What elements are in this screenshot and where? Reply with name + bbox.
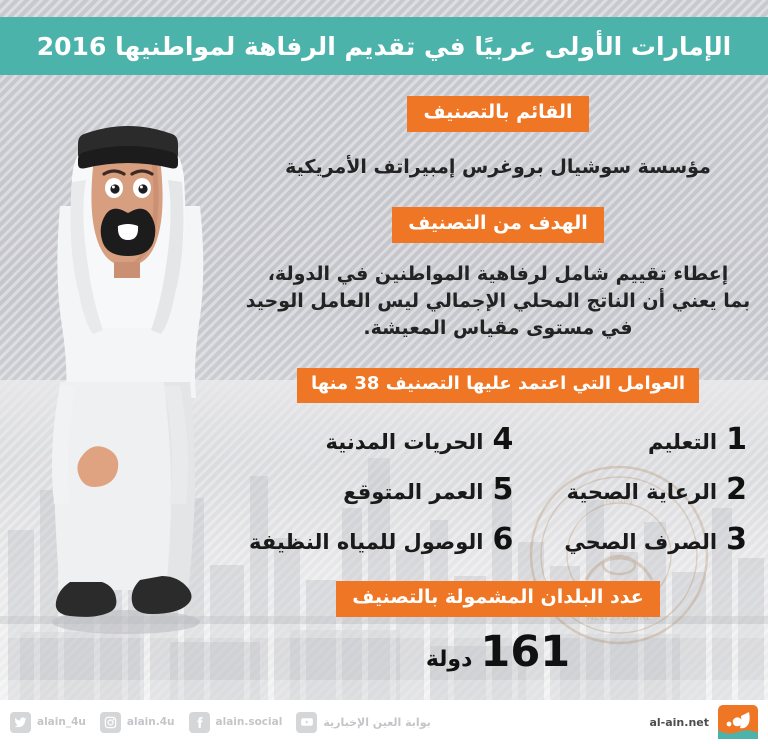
factor-label: الرعاية الصحية [567,480,718,504]
footer-bar: alain_4u alain.4u alai [0,700,768,744]
social-label: alain.4u [127,716,175,728]
country-count-unit: دولة [426,647,473,672]
country-count: 161 دولة [426,631,570,674]
factor-item: 4 الحريات المدنية [245,425,517,455]
factor-label: الحريات المدنية [326,430,484,454]
factor-number: 3 [726,525,747,555]
factor-item: 3 الصرف الصحي [523,525,751,555]
factors-grid: 1 التعليم 4 الحريات المدنية 2 الرعاية ال… [245,425,751,555]
badge-purpose: الهدف من التصنيف [392,207,604,243]
factor-label: العمر المتوقع [343,480,483,504]
factor-label: التعليم [648,430,717,454]
factor-number: 2 [726,475,747,505]
badge-countries: عدد البلدان المشمولة بالتصنيف [336,581,659,617]
content-column: القائم بالتصنيف مؤسسة سوشيال بروغرس إمبي… [228,96,768,674]
authority-body: مؤسسة سوشيال بروغرس إمبيراتف الأمريكية [285,154,711,181]
social-label: alain_4u [37,716,86,728]
instagram-icon[interactable] [100,712,121,733]
facebook-icon[interactable] [189,712,210,733]
footer-brand: al-ain.net [649,705,758,739]
emirati-man-illustration [14,86,240,646]
social-facebook[interactable]: alain.social [189,712,283,733]
social-instagram[interactable]: alain.4u [100,712,175,733]
social-youtube[interactable]: بوابة العين الإخبارية [296,712,430,733]
factor-number: 5 [492,475,513,505]
infographic-canvas: ALAIN NEWS PORTAL الإمارات الأولى عربيًا… [0,0,768,744]
youtube-icon[interactable] [296,712,317,733]
social-twitter[interactable]: alain_4u [10,712,86,733]
factor-item: 6 الوصول للمياه النظيفة [245,525,517,555]
factor-item: 1 التعليم [523,425,751,455]
factor-number: 1 [726,425,747,455]
social-label: بوابة العين الإخبارية [323,716,430,729]
factor-number: 6 [492,525,513,555]
badge-factors: العوامل التي اعتمد عليها التصنيف 38 منها [297,368,699,403]
country-count-value: 161 [480,631,570,674]
twitter-icon[interactable] [10,712,31,733]
page-title: الإمارات الأولى عربيًا في تقديم الرفاهة … [37,32,731,61]
factor-label: الوصول للمياه النظيفة [249,530,483,554]
al-ain-logo[interactable] [718,705,758,739]
purpose-body: إعطاء تقييم شامل لرفاهية المواطنين في ال… [246,261,750,342]
site-url[interactable]: al-ain.net [649,716,709,729]
factor-number: 4 [492,425,513,455]
factor-item: 2 الرعاية الصحية [523,475,751,505]
factor-label: الصرف الصحي [564,530,717,554]
social-label: alain.social [216,716,283,728]
factor-item: 5 العمر المتوقع [245,475,517,505]
header-banner: الإمارات الأولى عربيًا في تقديم الرفاهة … [0,17,768,75]
social-links: alain_4u alain.4u alai [10,712,431,733]
badge-authority: القائم بالتصنيف [407,96,588,132]
